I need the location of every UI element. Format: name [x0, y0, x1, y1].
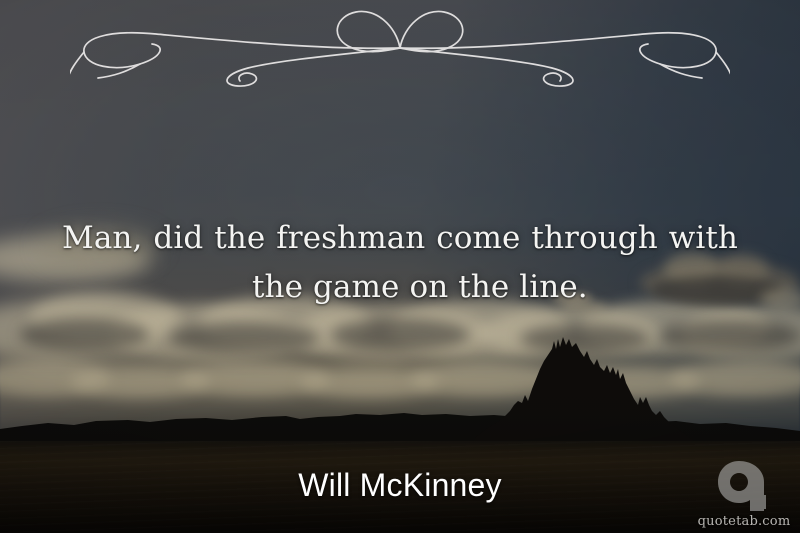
- quote-image-card: Man, did the freshman come through with …: [0, 0, 800, 533]
- quote-line-2: the game on the line.: [62, 263, 738, 312]
- quotetab-q-icon[interactable]: [716, 459, 772, 513]
- brand-name[interactable]: quotetab.com: [696, 514, 792, 529]
- brand-watermark[interactable]: quotetab.com: [696, 459, 792, 529]
- quote-text: Man, did the freshman come through with …: [62, 214, 738, 312]
- author-name: Will McKinney: [0, 466, 800, 504]
- decorative-flourish-icon: [70, 6, 730, 88]
- quote-line-1: Man, did the freshman come through with: [62, 214, 738, 263]
